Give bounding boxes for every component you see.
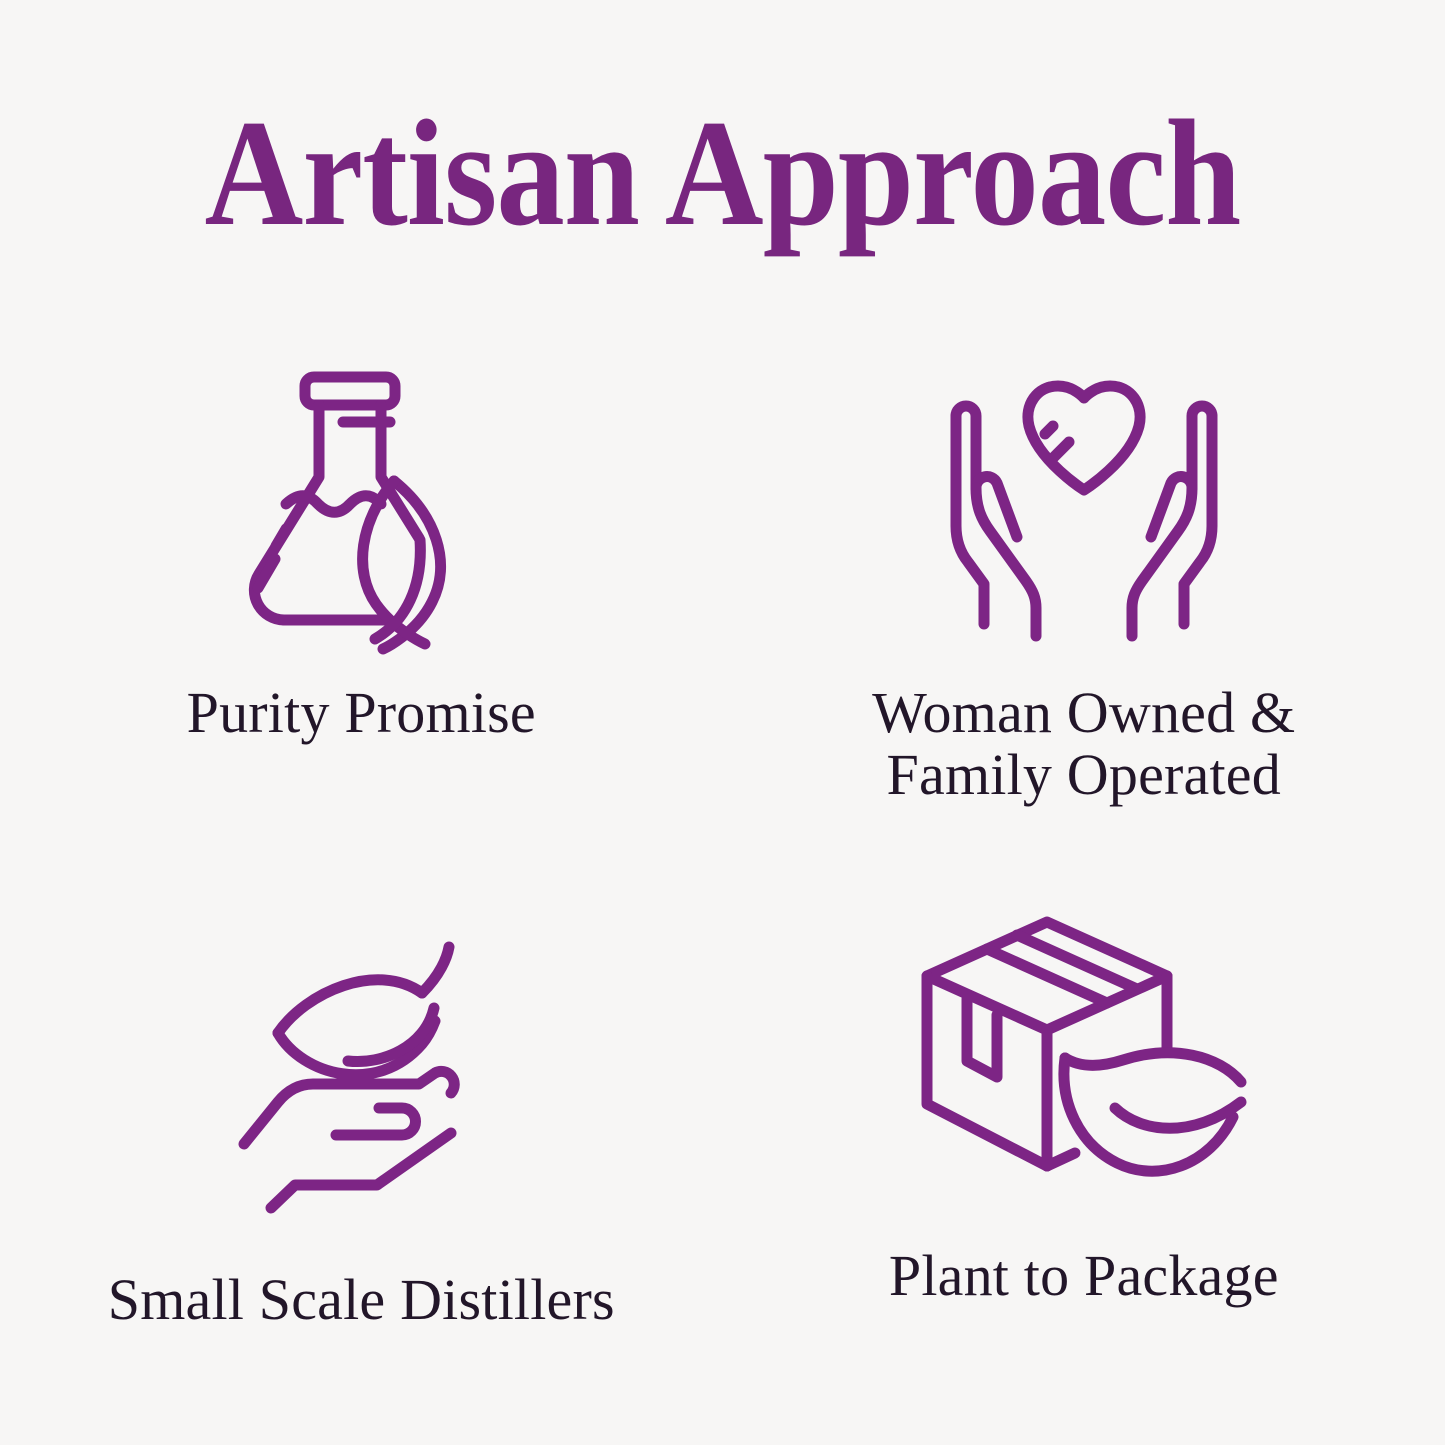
flask-leaf-icon (226, 348, 496, 648)
artisan-approach-graphic: Artisan Approach (0, 0, 1445, 1445)
feature-label: Small Scale Distillers (108, 1269, 615, 1331)
hand-leaf-icon (236, 913, 486, 1213)
feature-item-small-scale-distillers: Small Scale Distillers (0, 855, 723, 1380)
feature-grid: Purity Promise (0, 330, 1445, 1380)
feature-label: Plant to Package (889, 1245, 1279, 1307)
feature-item-plant-to-package: Plant to Package (723, 855, 1445, 1380)
feature-label: Woman Owned & Family Operated (872, 682, 1295, 806)
hands-heart-icon (934, 354, 1234, 654)
feature-item-woman-owned: Woman Owned & Family Operated (723, 330, 1445, 855)
feature-item-purity-promise: Purity Promise (0, 330, 723, 855)
page-title: Artisan Approach (72, 96, 1373, 251)
feature-label: Purity Promise (187, 682, 536, 744)
box-leaf-icon (919, 899, 1249, 1199)
